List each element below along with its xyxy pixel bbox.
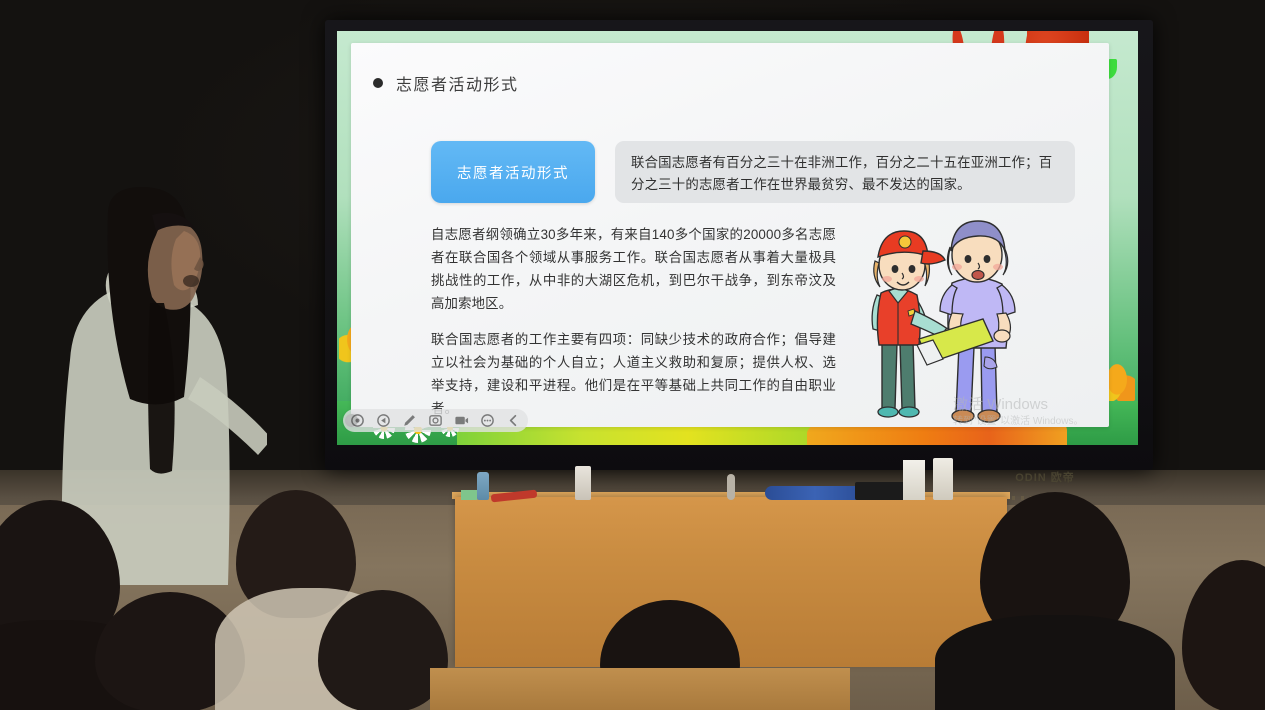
presentation-slide[interactable]: 志愿者活动形式 志愿者活动形式 联合国志愿者有百分之三十在非洲工作，百分之二十五… bbox=[337, 31, 1138, 445]
volunteer-illustration bbox=[851, 213, 1041, 425]
tissue-box-icon bbox=[903, 460, 925, 500]
lanyard-icon bbox=[727, 474, 735, 500]
blue-cloth-icon bbox=[765, 486, 865, 500]
student-silhouette bbox=[935, 615, 1175, 710]
section-tag-label: 志愿者活动形式 bbox=[457, 162, 569, 183]
slide-title: 志愿者活动形式 bbox=[373, 71, 519, 95]
water-bottle-icon bbox=[477, 472, 489, 500]
slide-title-text: 志愿者活动形式 bbox=[396, 71, 519, 95]
classroom-scene: ODIN 欧帝 志愿者活动形式 志愿者活动形式 bbox=[0, 0, 1265, 710]
body-paragraph: 联合国志愿者的工作主要有四项：同缺少技术的政府合作；倡导建立以社会为基础的个人自… bbox=[431, 328, 836, 420]
pen-icon[interactable] bbox=[402, 413, 417, 428]
section-tag-badge: 志愿者活动形式 bbox=[431, 141, 595, 203]
back-arrow-icon[interactable] bbox=[506, 413, 521, 428]
front-desk-edge bbox=[430, 668, 850, 710]
callout-box: 联合国志愿者有百分之三十在非洲工作，百分之二十五在亚洲工作；百分之三十的志愿者工… bbox=[615, 141, 1075, 203]
green-sticky-note-icon bbox=[461, 490, 477, 500]
body-paragraph: 自志愿者纲领确立30多年来，有来自140多个国家的20000多名志愿者在联合国各… bbox=[431, 223, 836, 315]
callout-text: 联合国志愿者有百分之三十在非洲工作，百分之二十五在亚洲工作；百分之三十的志愿者工… bbox=[631, 155, 1052, 192]
more-options-icon[interactable] bbox=[480, 413, 495, 428]
cup-icon bbox=[575, 466, 591, 500]
slideshow-toolbar[interactable] bbox=[343, 409, 528, 432]
subtitles-icon[interactable] bbox=[454, 413, 469, 428]
laser-pointer-icon[interactable] bbox=[350, 413, 365, 428]
zoom-icon[interactable] bbox=[428, 413, 443, 428]
previous-slide-icon[interactable] bbox=[376, 413, 391, 428]
slide-content-card: 志愿者活动形式 志愿者活动形式 联合国志愿者有百分之三十在非洲工作，百分之二十五… bbox=[351, 43, 1109, 427]
bullet-circle-icon bbox=[373, 78, 383, 88]
paper-roll-icon bbox=[933, 458, 953, 500]
podium-items bbox=[455, 455, 1007, 500]
